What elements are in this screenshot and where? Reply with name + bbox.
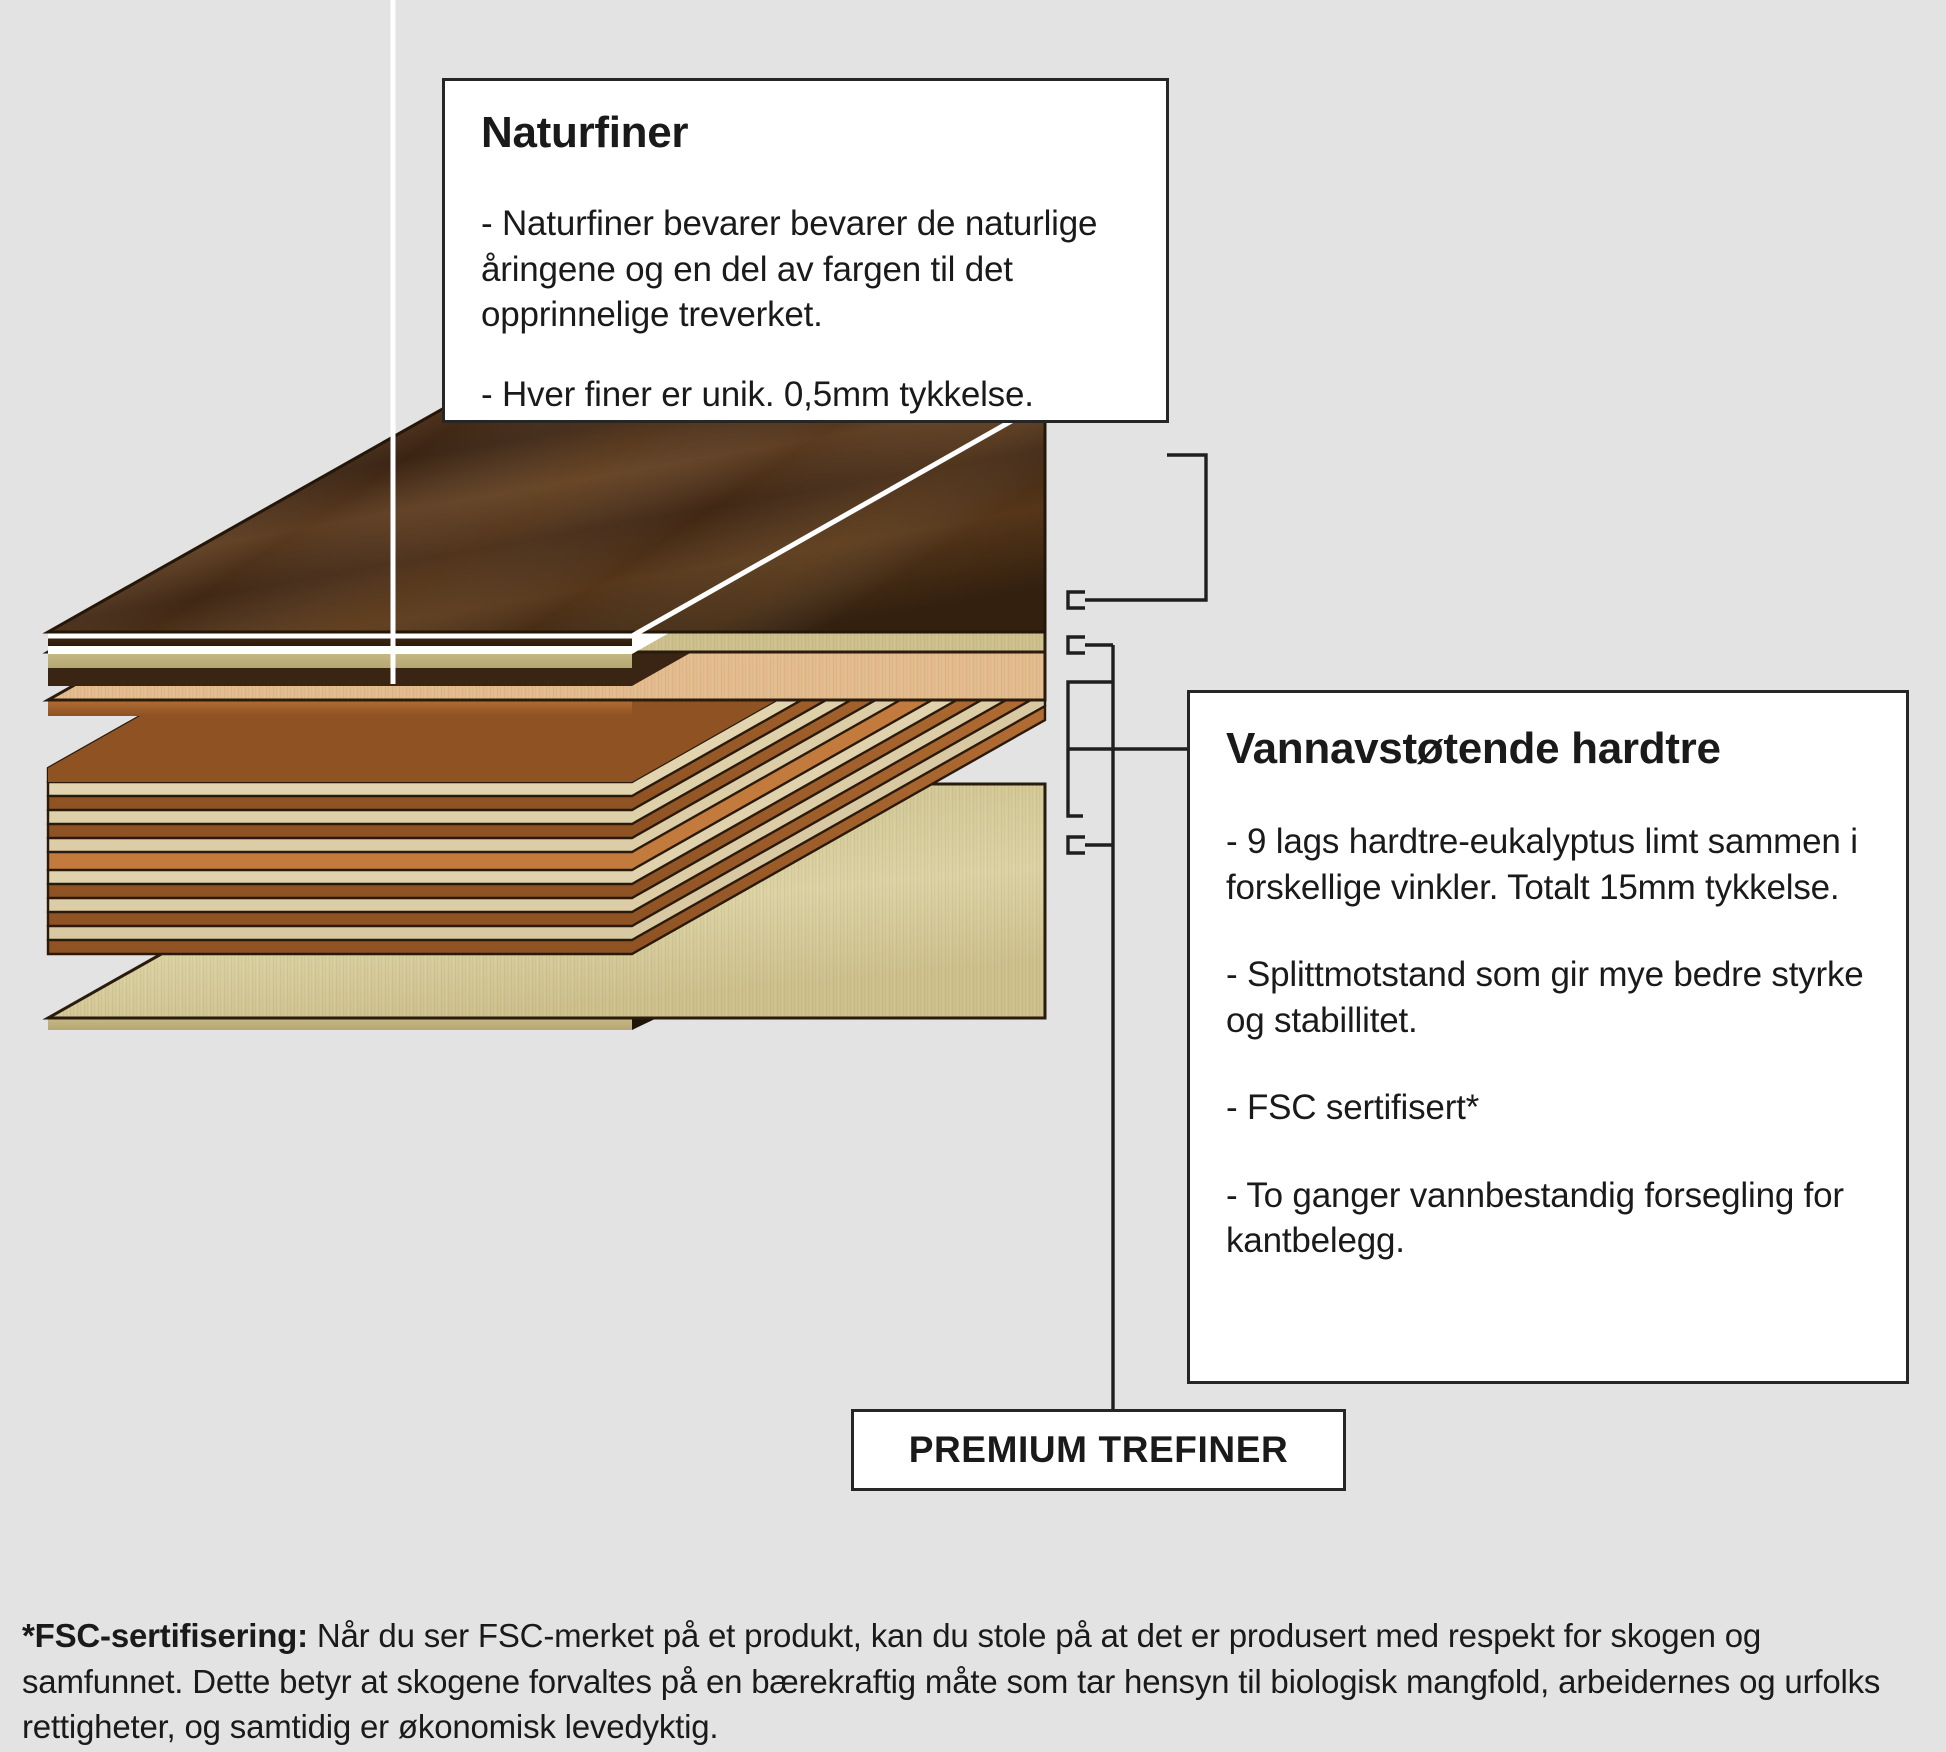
leader-core-bracket [1068,682,1187,816]
product-label-box: PREMIUM TREFINER [851,1409,1346,1491]
product-label-text: PREMIUM TREFINER [909,1429,1289,1471]
leader-crossband [1068,637,1113,653]
callout-core-bullet-2: - Splittmotstand som gir mye bedre styrk… [1226,952,1884,1043]
leader-naturfiner [1068,455,1206,608]
callout-veneer-bullet-2: - Hver finer er unik. 0,5mm tykkelse. [481,372,1136,418]
callout-natural-veneer: Naturfiner - Naturfiner bevarer bevarer … [442,78,1169,423]
diagram-stage: Naturfiner - Naturfiner bevarer bevarer … [0,0,1946,1752]
callout-core-bullet-4: - To ganger vannbestandig forsegling for… [1226,1173,1884,1264]
callout-core-title: Vannavstøtende hardtre [1226,725,1884,773]
leader-backer [1068,837,1113,853]
callout-waterproof-hardwood: Vannavstøtende hardtre - 9 lags hardtre-… [1187,690,1909,1384]
fsc-footnote: *FSC-sertifisering: Når du ser FSC-merke… [22,1613,1922,1750]
callout-veneer-bullet-1: - Naturfiner bevarer bevarer de naturlig… [481,201,1136,338]
callout-veneer-title: Naturfiner [481,109,1136,157]
callout-core-bullet-1: - 9 lags hardtre-eukalyptus limt sammen … [1226,819,1884,910]
callout-core-bullet-3: - FSC sertifisert* [1226,1085,1884,1131]
fsc-footnote-lead: *FSC-sertifisering: [22,1617,308,1654]
